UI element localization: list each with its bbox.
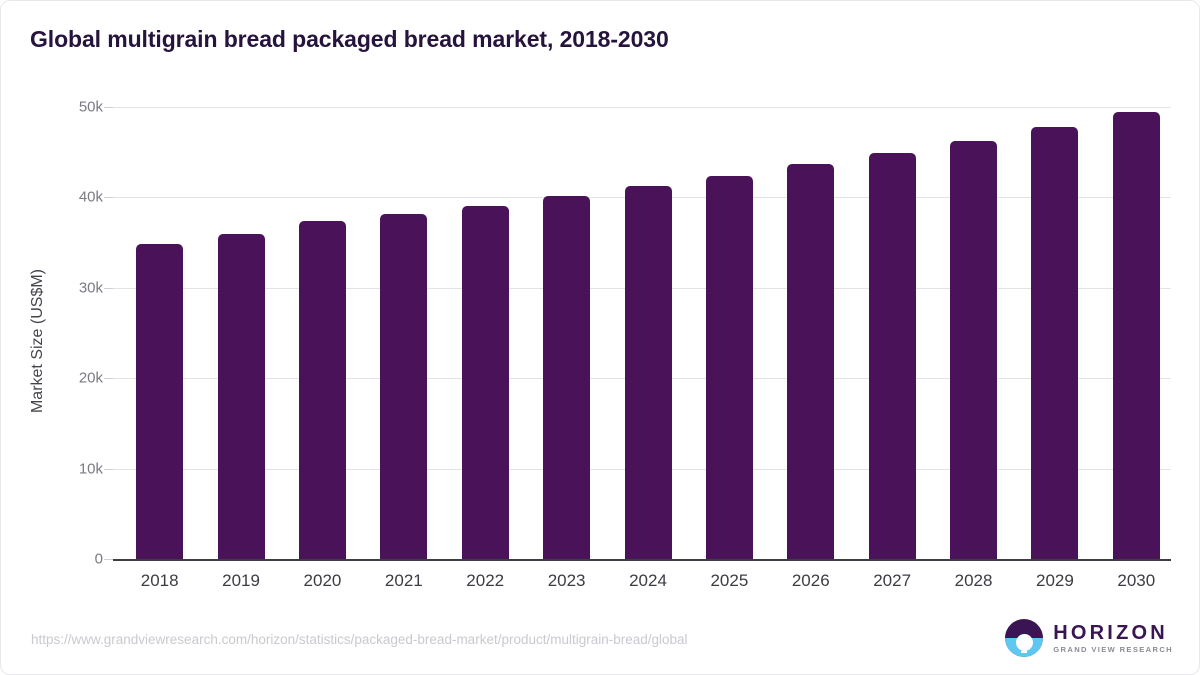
logo-ray-2 [1019,647,1029,649]
bar-2024[interactable] [625,186,672,559]
logo-wordmark: HORIZON [1053,623,1173,643]
page-title: Global multigrain bread packaged bread m… [30,26,669,53]
logo-tagline: GRAND VIEW RESEARCH [1053,646,1173,654]
y-axis-tick-mark [104,197,113,198]
chart-card: Global multigrain bread packaged bread m… [0,0,1200,675]
y-axis-tick-label: 20k [37,370,103,387]
x-axis-tick-label: 2027 [852,571,932,591]
x-axis-tick-label: 2025 [689,571,769,591]
plot-area [113,107,1171,559]
bar-2020[interactable] [299,221,346,559]
x-axis-tick-label: 2026 [771,571,851,591]
logo-ray-3 [1021,651,1027,653]
y-axis-tick-mark [104,107,113,108]
x-axis-tick-label: 2028 [934,571,1014,591]
y-axis-tick-label: 30k [37,279,103,296]
bar-2022[interactable] [462,206,509,559]
source-url[interactable]: https://www.grandviewresearch.com/horizo… [31,632,688,647]
bar-2027[interactable] [869,153,916,559]
logo-text: HORIZON GRAND VIEW RESEARCH [1053,623,1173,654]
bar-2029[interactable] [1031,127,1078,559]
y-axis-tick-mark [104,469,113,470]
x-axis-tick-label: 2020 [282,571,362,591]
gridline [113,107,1171,108]
bar-2023[interactable] [543,196,590,559]
bar-2021[interactable] [380,214,427,559]
x-axis-tick-label: 2018 [120,571,200,591]
horizon-sun-circle-icon [1005,619,1043,657]
y-axis-tick-label: 10k [37,460,103,477]
bar-2028[interactable] [950,141,997,559]
y-axis-tick-mark [104,559,113,560]
bar-2018[interactable] [136,244,183,559]
y-axis-tick-label: 0 [37,551,103,568]
bar-2019[interactable] [218,234,265,559]
x-axis-tick-label: 2029 [1015,571,1095,591]
x-axis-tick-label: 2023 [527,571,607,591]
x-axis-tick-label: 2021 [364,571,444,591]
y-axis-title: Market Size (US$M) [27,181,49,501]
bar-2030[interactable] [1113,112,1160,559]
y-axis-tick-mark [104,378,113,379]
x-axis-tick-label: 2022 [445,571,525,591]
x-axis-tick-label: 2019 [201,571,281,591]
y-axis-tick-mark [104,288,113,289]
horizon-logo: HORIZON GRAND VIEW RESEARCH [1005,619,1173,657]
x-axis-tick-label: 2030 [1096,571,1176,591]
bar-2025[interactable] [706,176,753,559]
x-axis-line [113,559,1171,561]
x-axis-tick-label: 2024 [608,571,688,591]
bar-2026[interactable] [787,164,834,559]
logo-ray-1 [1017,642,1031,644]
y-axis-tick-label: 50k [37,99,103,116]
y-axis-tick-label: 40k [37,189,103,206]
